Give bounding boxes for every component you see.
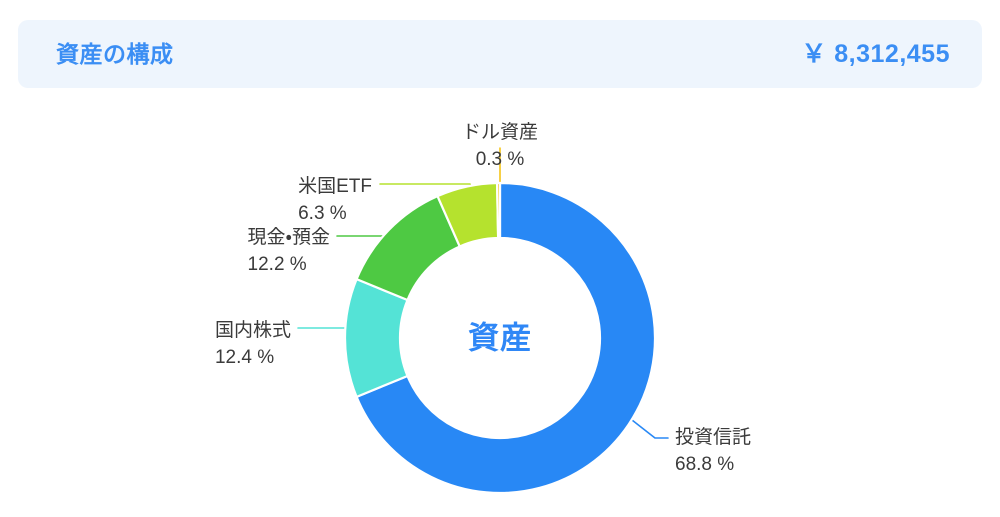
donut-center-label: 資産: [468, 321, 532, 356]
callout-percent-1: 12.4 %: [215, 347, 274, 368]
donut-chart-svg: 投資信託68.8 %国内株式12.4 %現金・預金12.2 %米国ETF6.3 …: [0, 88, 1000, 517]
total-asset-amount: ￥ 8,312,455: [801, 42, 950, 67]
callout-name-1: 国内株式: [215, 319, 291, 341]
asset-composition-header-card: 資産の構成 ￥ 8,312,455: [18, 20, 982, 88]
callout-name-2: 現金・預金: [248, 226, 330, 248]
asset-donut-chart: 投資信託68.8 %国内株式12.4 %現金・預金12.2 %米国ETF6.3 …: [0, 88, 1000, 517]
callout-percent-0: 68.8 %: [675, 454, 734, 475]
callout-percent-4: 0.3 %: [476, 149, 525, 170]
page-title: 資産の構成: [56, 43, 174, 66]
donut-slice-4[interactable]: [497, 183, 500, 238]
callout-name-0: 投資信託: [675, 426, 751, 448]
callout-name-3: 米国ETF: [298, 175, 372, 197]
callout-percent-2: 12.2 %: [248, 254, 307, 275]
slice-callouts: 投資信託68.8 %国内株式12.4 %現金・預金12.2 %米国ETF6.3 …: [215, 121, 751, 475]
asset-composition-page: 資産の構成 ￥ 8,312,455 投資信託68.8 %国内株式12.4 %現金…: [0, 0, 1000, 517]
callout-percent-3: 6.3 %: [298, 203, 347, 224]
callout-name-4: ドル資産: [462, 121, 538, 143]
